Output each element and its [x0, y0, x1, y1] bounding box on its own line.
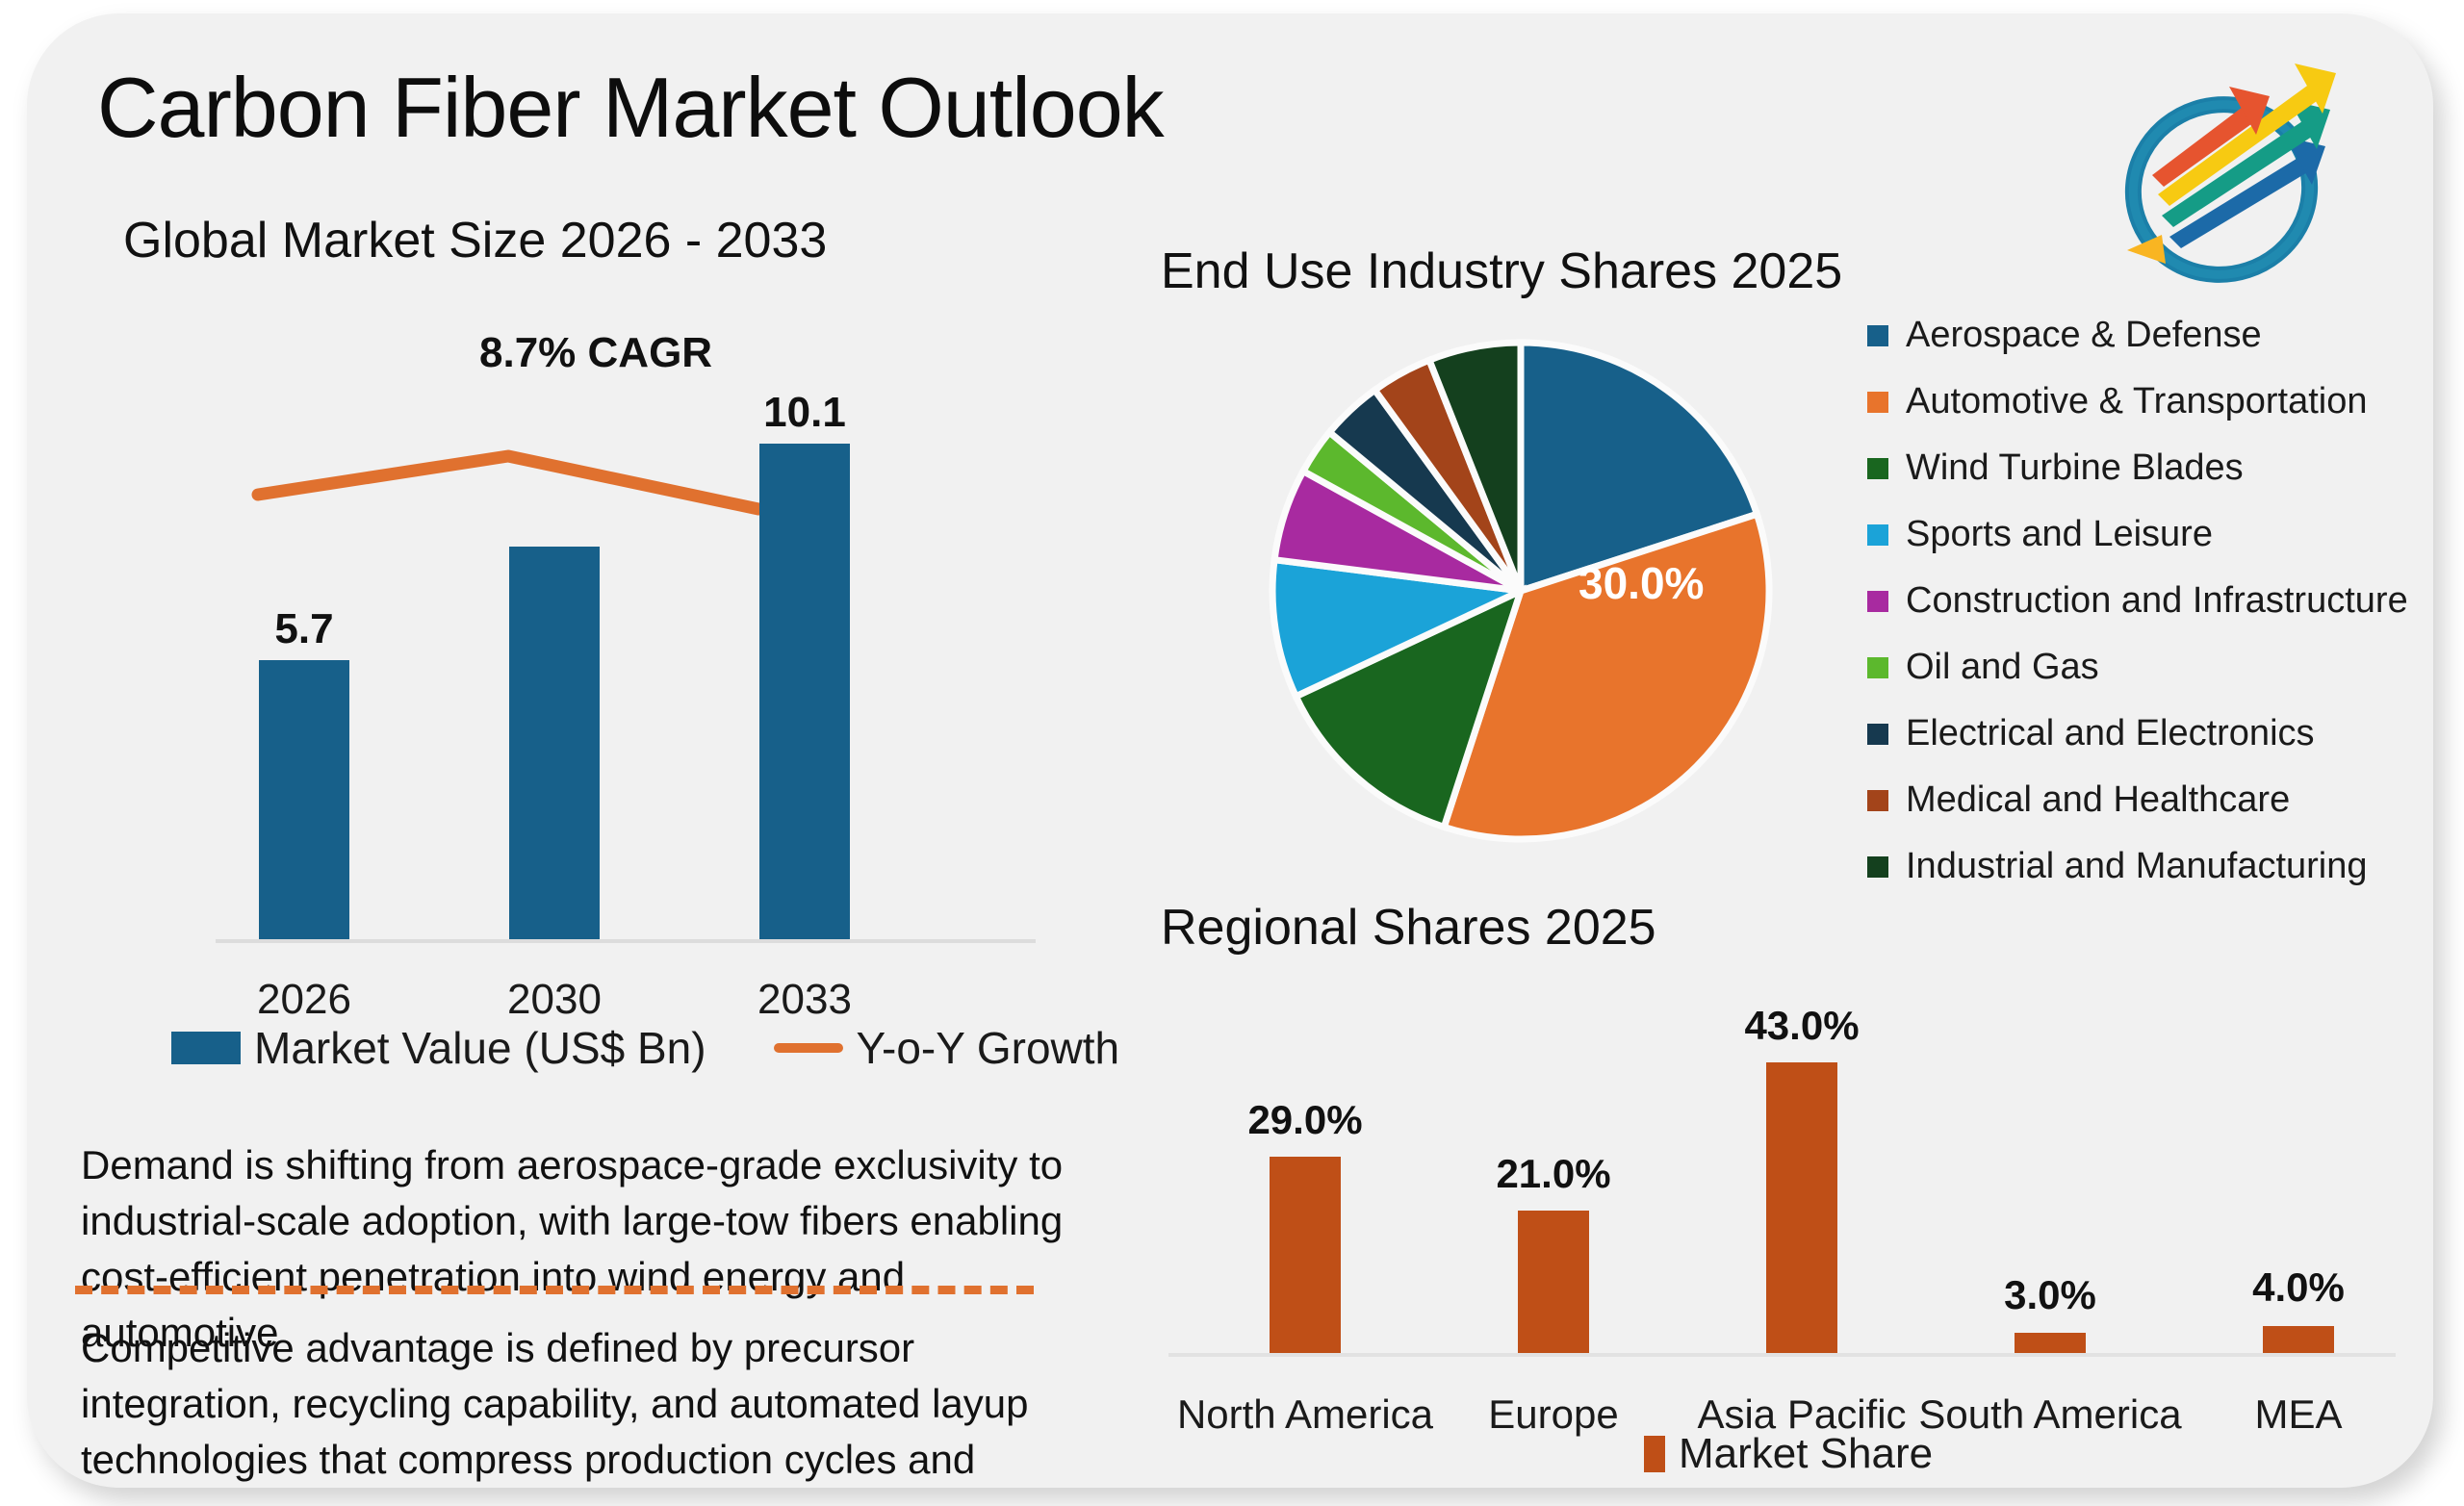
pie-legend-item-electrical-electronics: Electrical and Electronics: [1867, 701, 2408, 767]
cagr-annotation: 8.7% CAGR: [479, 329, 712, 377]
infographic-card: Carbon Fiber Market Outlook: [27, 13, 2433, 1488]
legend-swatch-icon: [1867, 724, 1888, 745]
regional-bar-europe: [1518, 1211, 1589, 1353]
pie-legend-item-automotive-transportation: Automotive & Transportation: [1867, 369, 2408, 435]
legend-swatch-icon: [1867, 790, 1888, 811]
pie-legend-item-construction-infrastructure: Construction and Infrastructure: [1867, 568, 2408, 634]
end-use-pie-chart: 30.0%: [1261, 331, 1781, 851]
pie-legend-label: Oil and Gas: [1906, 647, 2099, 688]
regional-value-south-america: 3.0%: [1944, 1272, 2156, 1318]
legend-label-market-value: Market Value (US$ Bn): [254, 1022, 706, 1074]
legend-swatch-icon: [1867, 591, 1888, 612]
regional-value-asia-pacific: 43.0%: [1696, 1003, 1908, 1049]
pie-legend: Aerospace & Defense Automotive & Transpo…: [1867, 302, 2408, 900]
page-title: Carbon Fiber Market Outlook: [97, 59, 1164, 157]
legend-item-market-value: Market Value (US$ Bn): [171, 1022, 706, 1074]
legend-swatch-icon: [1867, 657, 1888, 678]
pie-legend-item-sports-and-leisure: Sports and Leisure: [1867, 501, 2408, 568]
end-use-title: End Use Industry Shares 2025: [1161, 242, 1842, 300]
legend-swatch-icon: [1867, 856, 1888, 878]
bar-value-2026: 5.7: [227, 605, 381, 653]
bar-category-2033: 2033: [689, 976, 920, 1024]
legend-swatch-icon: [1867, 458, 1888, 479]
regional-chart-axis: [1168, 1353, 2396, 1357]
bar-value-2033: 10.1: [728, 389, 882, 437]
pie-legend-label: Industrial and Manufacturing: [1906, 846, 2368, 887]
growth-arrows-logo: [2094, 40, 2383, 300]
regional-value-north-america: 29.0%: [1199, 1097, 1411, 1143]
regional-value-europe: 21.0%: [1448, 1151, 1659, 1197]
pie-legend-label: Construction and Infrastructure: [1906, 580, 2408, 622]
regional-bar-south-america: [2015, 1333, 2086, 1353]
dashed-divider: [75, 1286, 1034, 1294]
regional-value-mea: 4.0%: [2193, 1264, 2404, 1311]
pie-legend-label: Aerospace & Defense: [1906, 315, 2262, 356]
regional-category-north-america: North America: [1161, 1391, 1450, 1438]
pie-legend-label: Sports and Leisure: [1906, 514, 2213, 555]
pie-legend-item-aerospace-defense: Aerospace & Defense: [1867, 302, 2408, 369]
pie-legend-label: Electrical and Electronics: [1906, 713, 2315, 754]
legend-swatch-line-icon: [774, 1043, 843, 1053]
regional-bar-asia-pacific: [1766, 1062, 1837, 1353]
regional-legend-label: Market Share: [1679, 1430, 1933, 1478]
bar-category-2026: 2026: [189, 976, 420, 1024]
pie-legend-label: Wind Turbine Blades: [1906, 447, 2244, 489]
legend-swatch-icon: [1867, 524, 1888, 546]
pie-slice-label-aerospace: 30.0%: [1578, 557, 1704, 609]
regional-bar-north-america: [1270, 1157, 1341, 1353]
logo-svg: [2094, 40, 2383, 300]
legend-swatch-icon: [1644, 1436, 1665, 1472]
callout-text-2: Competitive advantage is defined by prec…: [81, 1320, 1082, 1488]
pie-legend-item-wind-turbine-blades: Wind Turbine Blades: [1867, 435, 2408, 501]
bar-2033: [759, 444, 850, 939]
pie-legend-label: Automotive & Transportation: [1906, 381, 2367, 422]
regional-bar-mea: [2263, 1326, 2334, 1353]
market-size-title: Global Market Size 2026 - 2033: [123, 212, 827, 269]
pie-legend-item-medical-healthcare: Medical and Healthcare: [1867, 767, 2408, 833]
pie-legend-label: Medical and Healthcare: [1906, 779, 2290, 821]
regional-category-south-america: South America: [1906, 1391, 2194, 1438]
legend-swatch-icon: [1867, 325, 1888, 346]
legend-label-yoy-growth: Y-o-Y Growth: [857, 1022, 1120, 1074]
legend-item-yoy-growth: Y-o-Y Growth: [774, 1022, 1120, 1074]
regional-chart-legend: Market Share: [1644, 1430, 1933, 1478]
regional-shares-bar-chart: 29.0% 21.0% 43.0% 3.0% 4.0% North Americ…: [1161, 976, 2402, 1380]
pie-legend-item-industrial-manufacturing: Industrial and Manufacturing: [1867, 833, 2408, 900]
bar-2026: [259, 660, 349, 939]
bar-2030: [509, 547, 600, 939]
pie-legend-item-oil-and-gas: Oil and Gas: [1867, 634, 2408, 701]
legend-swatch-icon: [1867, 392, 1888, 413]
market-chart-legend: Market Value (US$ Bn) Y-o-Y Growth: [171, 1022, 1119, 1074]
market-size-bar-chart: 5.7 10.1 8.7% CAGR 2026 2030 2033: [123, 302, 989, 976]
regional-category-mea: MEA: [2154, 1391, 2433, 1438]
regional-shares-title: Regional Shares 2025: [1161, 899, 1656, 957]
bar-category-2030: 2030: [439, 976, 670, 1024]
legend-swatch-bar-icon: [171, 1032, 241, 1064]
